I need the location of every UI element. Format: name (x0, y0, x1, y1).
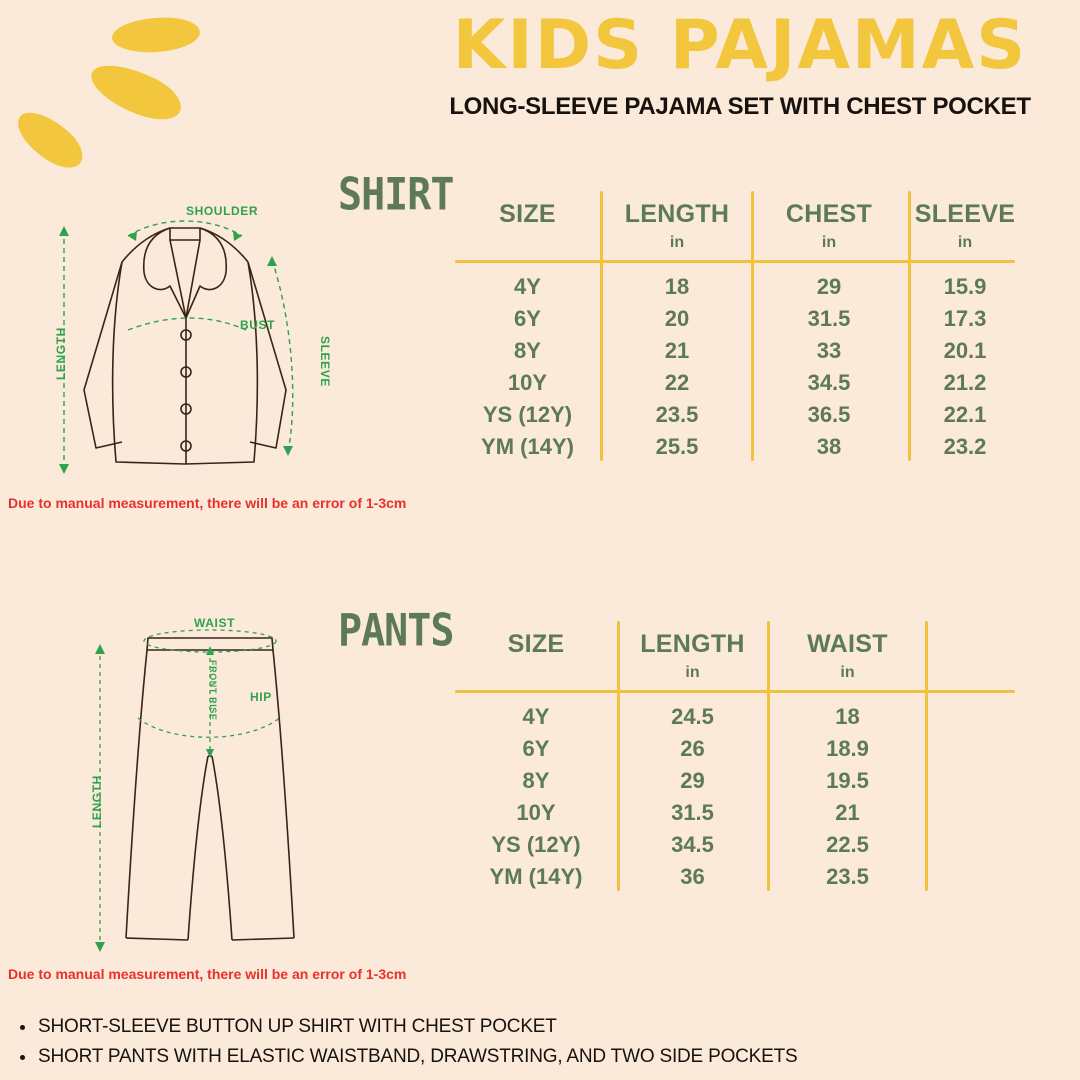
decor-blob-bottom (9, 102, 91, 177)
shirt-col-length: LENGTH in (603, 200, 751, 252)
decor-blob-middle (84, 54, 188, 130)
header: KIDS PAJAMAS LONG-SLEEVE PAJAMA SET WITH… (420, 10, 1060, 121)
feature-list: SHORT-SLEEVE BUTTON UP SHIRT WITH CHEST … (16, 1012, 798, 1072)
pants-disclaimer: Due to manual measurement, there will be… (8, 966, 406, 982)
table-row: 8Y 21 33 20.1 (455, 335, 1015, 367)
pants-table-body: 4Y 24.5 18 6Y 26 18.9 8Y 29 19.5 10Y 31.… (455, 693, 1015, 893)
pants-col-length: LENGTH in (620, 630, 765, 682)
table-row: 6Y 26 18.9 (455, 733, 1015, 765)
shirt-table-header: SIZE LENGTH in CHEST in SLEEVE in (455, 192, 1015, 260)
shirt-disclaimer: Due to manual measurement, there will be… (8, 495, 406, 511)
pants-col-size: SIZE (455, 630, 617, 664)
shirt-col-chest: CHEST in (755, 200, 903, 252)
pants-size-table: SIZE LENGTH in WAIST in 4Y 24.5 18 6Y 26 (455, 622, 1015, 893)
table-row: 4Y 24.5 18 (455, 701, 1015, 733)
table-row: YM (14Y) 25.5 38 23.2 (455, 431, 1015, 463)
shirt-label-bust: BUST (240, 318, 275, 332)
table-row: 8Y 29 19.5 (455, 765, 1015, 797)
list-item: SHORT-SLEEVE BUTTON UP SHIRT WITH CHEST … (16, 1012, 798, 1042)
table-row: 10Y 31.5 21 (455, 797, 1015, 829)
shirt-label-length: LENGTH (54, 327, 68, 380)
shirt-col-size: SIZE (455, 200, 600, 234)
pants-diagram: WAIST LENGTH FRONT RISE HIP (60, 608, 360, 958)
decor-blob-top (111, 15, 201, 55)
shirt-table-body: 4Y 18 29 15.9 6Y 20 31.5 17.3 8Y 21 33 2… (455, 263, 1015, 463)
pants-label-waist: WAIST (194, 616, 235, 630)
shirt-diagram: SHOULDER LENGTH BUST SLEEVE (10, 190, 360, 490)
shirt-label-sleeve: SLEEVE (318, 336, 332, 387)
pants-table-header: SIZE LENGTH in WAIST in (455, 622, 1015, 690)
shirt-label-shoulder: SHOULDER (186, 204, 258, 218)
table-row: YS (12Y) 23.5 36.5 22.1 (455, 399, 1015, 431)
table-row: 4Y 18 29 15.9 (455, 271, 1015, 303)
table-row: YM (14Y) 36 23.5 (455, 861, 1015, 893)
shirt-col-sleeve: SLEEVE in (910, 200, 1020, 252)
table-row: 6Y 20 31.5 17.3 (455, 303, 1015, 335)
pants-col-waist: WAIST in (770, 630, 925, 682)
pants-col-empty (927, 630, 1015, 635)
pants-label-front-rise: FRONT RISE (208, 660, 218, 721)
pants-label-length: LENGTH (90, 775, 104, 828)
table-row: YS (12Y) 34.5 22.5 (455, 829, 1015, 861)
pants-label-hip: HIP (250, 690, 272, 704)
page-subtitle: LONG-SLEEVE PAJAMA SET WITH CHEST POCKET (420, 93, 1060, 121)
list-item: SHORT PANTS WITH ELASTIC WAISTBAND, DRAW… (16, 1042, 798, 1072)
page-title: KIDS PAJAMAS (420, 10, 1060, 81)
table-row: 10Y 22 34.5 21.2 (455, 367, 1015, 399)
shirt-size-table: SIZE LENGTH in CHEST in SLEEVE in 4Y 18 … (455, 192, 1015, 463)
